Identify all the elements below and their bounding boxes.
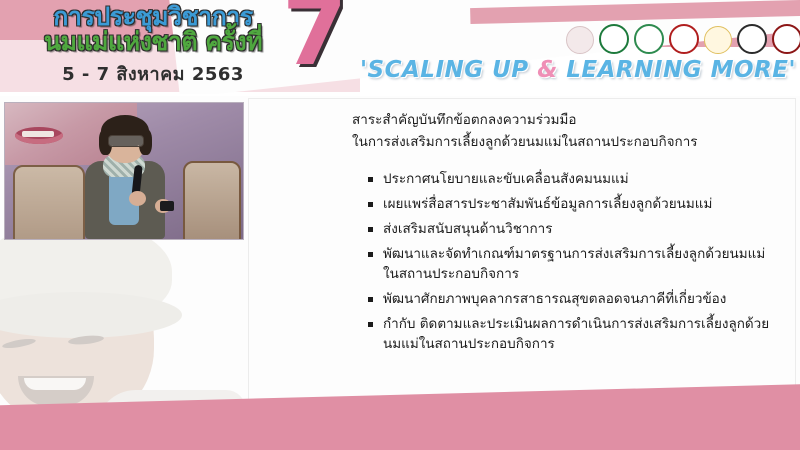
content-heading-line1: สาระสำคัญบันทึกข้อตกลงความร่วมมือ <box>352 110 782 132</box>
content-heading-line2: ในการส่งเสริมการเลี้ยงลูกด้วยนมแม่ในสถาน… <box>352 132 782 154</box>
list-item: กำกับ ติดตามและประเมินผลการดำเนินการส่งเ… <box>368 315 780 355</box>
header-underline <box>0 94 800 96</box>
speaker-hand-mic <box>129 191 146 206</box>
department-health-logo <box>634 24 664 54</box>
conference-title-block: การประชุมวิชาการ นมแม่แห่งชาติ ครั้งที่ … <box>18 4 288 88</box>
conference-slogan: 'SCALING UP & LEARNING MORE' <box>360 57 796 83</box>
backdrop-teeth <box>22 131 54 137</box>
list-item: พัฒนาและจัดทำเกณฑ์มาตรฐานการส่งเสริมการเ… <box>368 245 780 285</box>
presentation-slide: การประชุมวิชาการ นมแม่แห่งชาติ ครั้งที่ … <box>0 0 800 450</box>
university-seal-logo <box>772 24 800 54</box>
speaker-glasses <box>108 135 144 147</box>
conference-title-line2: นมแม่แห่งชาติ ครั้งที่ <box>18 29 288 55</box>
child-hat-brim <box>0 292 182 338</box>
list-item: พัฒนาศักยภาพบุคลากรสาธารณสุขตลอดจนภาคีที… <box>368 290 780 310</box>
armchair-left <box>13 165 85 240</box>
national-institute-logo <box>737 24 767 54</box>
armchair-right <box>183 161 241 240</box>
ministry-public-health-logo <box>599 24 629 54</box>
slogan-ampersand: & <box>537 57 558 83</box>
speaker-presentation-photo <box>4 102 244 240</box>
footer-pink-band-flat <box>0 436 800 450</box>
royal-garuda-logo <box>704 26 732 54</box>
list-item: เผยแพร่สื่อสารประชาสัมพันธ์ข้อมูลการเลี้… <box>368 195 780 215</box>
thai-red-cross-logo <box>669 24 699 54</box>
list-item: ประกาศนโยบายและขับเคลื่อนสังคมนมแม่ <box>368 170 780 190</box>
list-item: ส่งเสริมสนับสนุนด้านวิชาการ <box>368 220 780 240</box>
conference-date: 5 - 7 สิงหาคม 2563 <box>18 59 288 88</box>
presenter-remote <box>160 201 174 211</box>
child-teeth <box>24 378 86 390</box>
royal-emblem-logo <box>566 26 594 54</box>
content-heading: สาระสำคัญบันทึกข้อตกลงความร่วมมือ ในการส… <box>352 110 782 154</box>
sponsor-logo-row: สสส THAI HEALTH <box>566 24 800 54</box>
conference-edition-number: 7 <box>282 0 347 80</box>
slogan-prefix: 'SCALING UP <box>360 57 537 83</box>
agreement-bullet-list: ประกาศนโยบายและขับเคลื่อนสังคมนมแม่ เผยแ… <box>368 170 780 360</box>
slogan-suffix: LEARNING MORE' <box>558 57 796 83</box>
